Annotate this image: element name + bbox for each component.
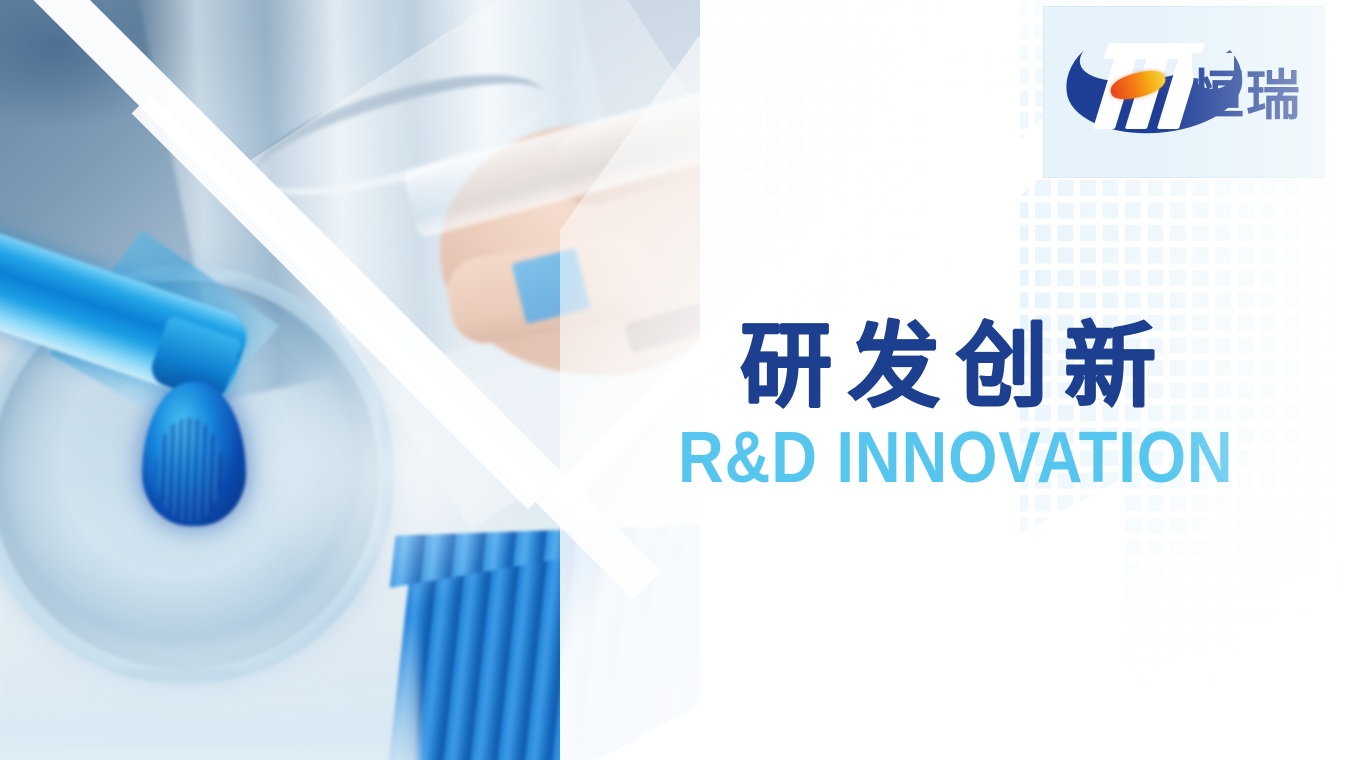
page-title-chinese: 研发创新 [740,318,1340,416]
depth-blur-veil-bottom [0,620,420,760]
photo-collage [0,0,700,760]
page-title-english: R&D INNOVATION [678,422,1261,494]
logo-bar-crossbar [1104,43,1201,59]
depth-blur-veil-center [240,330,540,610]
brand-logo[interactable]: 恒瑞 [1043,6,1325,178]
droplet-streak [156,418,222,522]
brand-name-chinese: 恒瑞 [1190,69,1302,123]
title-block: 研发创新 R&D INNOVATION [740,318,1340,494]
banner-root: 研发创新 R&D INNOVATION 恒瑞 [0,0,1350,760]
